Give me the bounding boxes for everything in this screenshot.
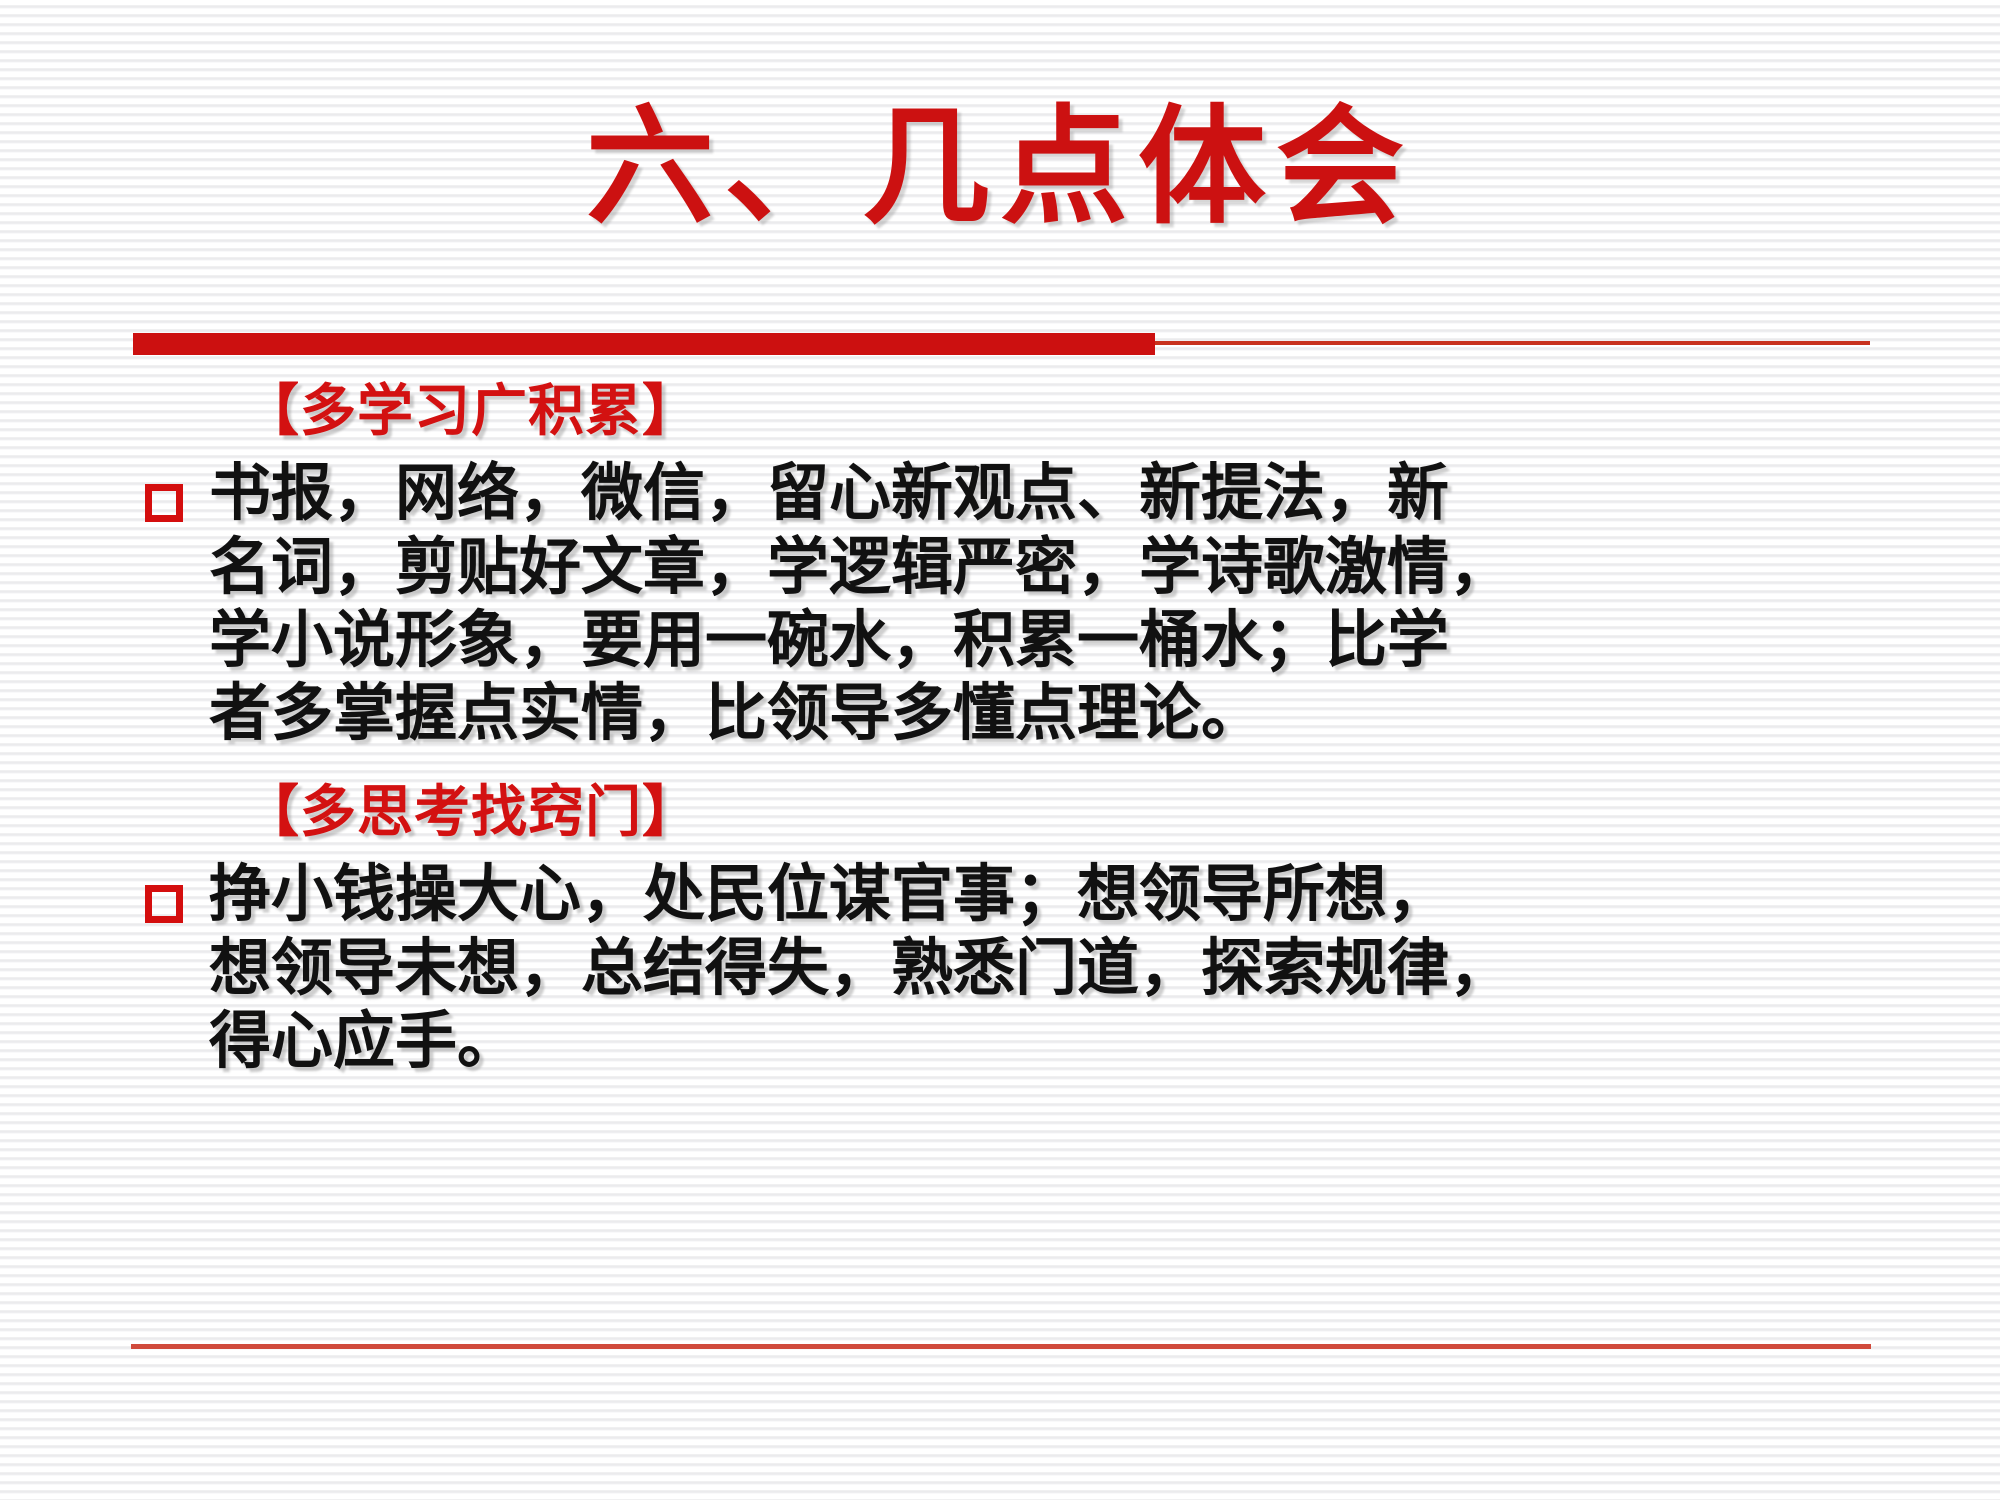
section-spacer — [133, 751, 1893, 781]
section-2-heading: 【多思考找窍门】 — [243, 781, 1893, 845]
section-1-heading: 【多学习广积累】 — [243, 380, 1893, 444]
bullet-line: 名词，剪贴好文章，学逻辑严密，学诗歌激情， — [209, 532, 1893, 605]
slide-canvas: 六、几点体会 【多学习广积累】 书报，网络，微信，留心新观点、新提法，新 名词，… — [0, 0, 2000, 1500]
bullet-line: 者多掌握点实情，比领导多懂点理论。 — [209, 678, 1893, 751]
list-item: 书报，网络，微信，留心新观点、新提法，新 名词，剪贴好文章，学逻辑严密，学诗歌激… — [133, 458, 1893, 751]
bullet-line: 书报，网络，微信，留心新观点、新提法，新 — [209, 458, 1893, 531]
list-item: 挣小钱操大心，处民位谋官事；想领导所想， 想领导未想，总结得失，熟悉门道，探索规… — [133, 859, 1893, 1078]
title-divider-thick-bar — [133, 333, 1155, 355]
section-1: 【多学习广积累】 书报，网络，微信，留心新观点、新提法，新 名词，剪贴好文章，学… — [133, 380, 1893, 751]
bullet-line: 得心应手。 — [209, 1006, 1893, 1079]
bottom-rule — [131, 1344, 1871, 1349]
section-1-bullet-1-text: 书报，网络，微信，留心新观点、新提法，新 名词，剪贴好文章，学逻辑严密，学诗歌激… — [209, 458, 1893, 751]
bullet-line: 挣小钱操大心，处民位谋官事；想领导所想， — [209, 859, 1893, 932]
section-2: 【多思考找窍门】 挣小钱操大心，处民位谋官事；想领导所想， 想领导未想，总结得失… — [133, 781, 1893, 1079]
hollow-square-bullet-icon — [145, 885, 183, 923]
title-block: 六、几点体会 — [0, 96, 2000, 239]
bullet-line: 学小说形象，要用一碗水，积累一桶水；比学 — [209, 605, 1893, 678]
slide-content: 【多学习广积累】 书报，网络，微信，留心新观点、新提法，新 名词，剪贴好文章，学… — [133, 380, 1893, 1079]
bullet-line: 想领导未想，总结得失，熟悉门道，探索规律， — [209, 933, 1893, 1006]
title-divider — [133, 333, 1870, 355]
page-title: 六、几点体会 — [586, 96, 1414, 239]
hollow-square-bullet-icon — [145, 484, 183, 522]
section-2-bullet-1-text: 挣小钱操大心，处民位谋官事；想领导所想， 想领导未想，总结得失，熟悉门道，探索规… — [209, 859, 1893, 1078]
